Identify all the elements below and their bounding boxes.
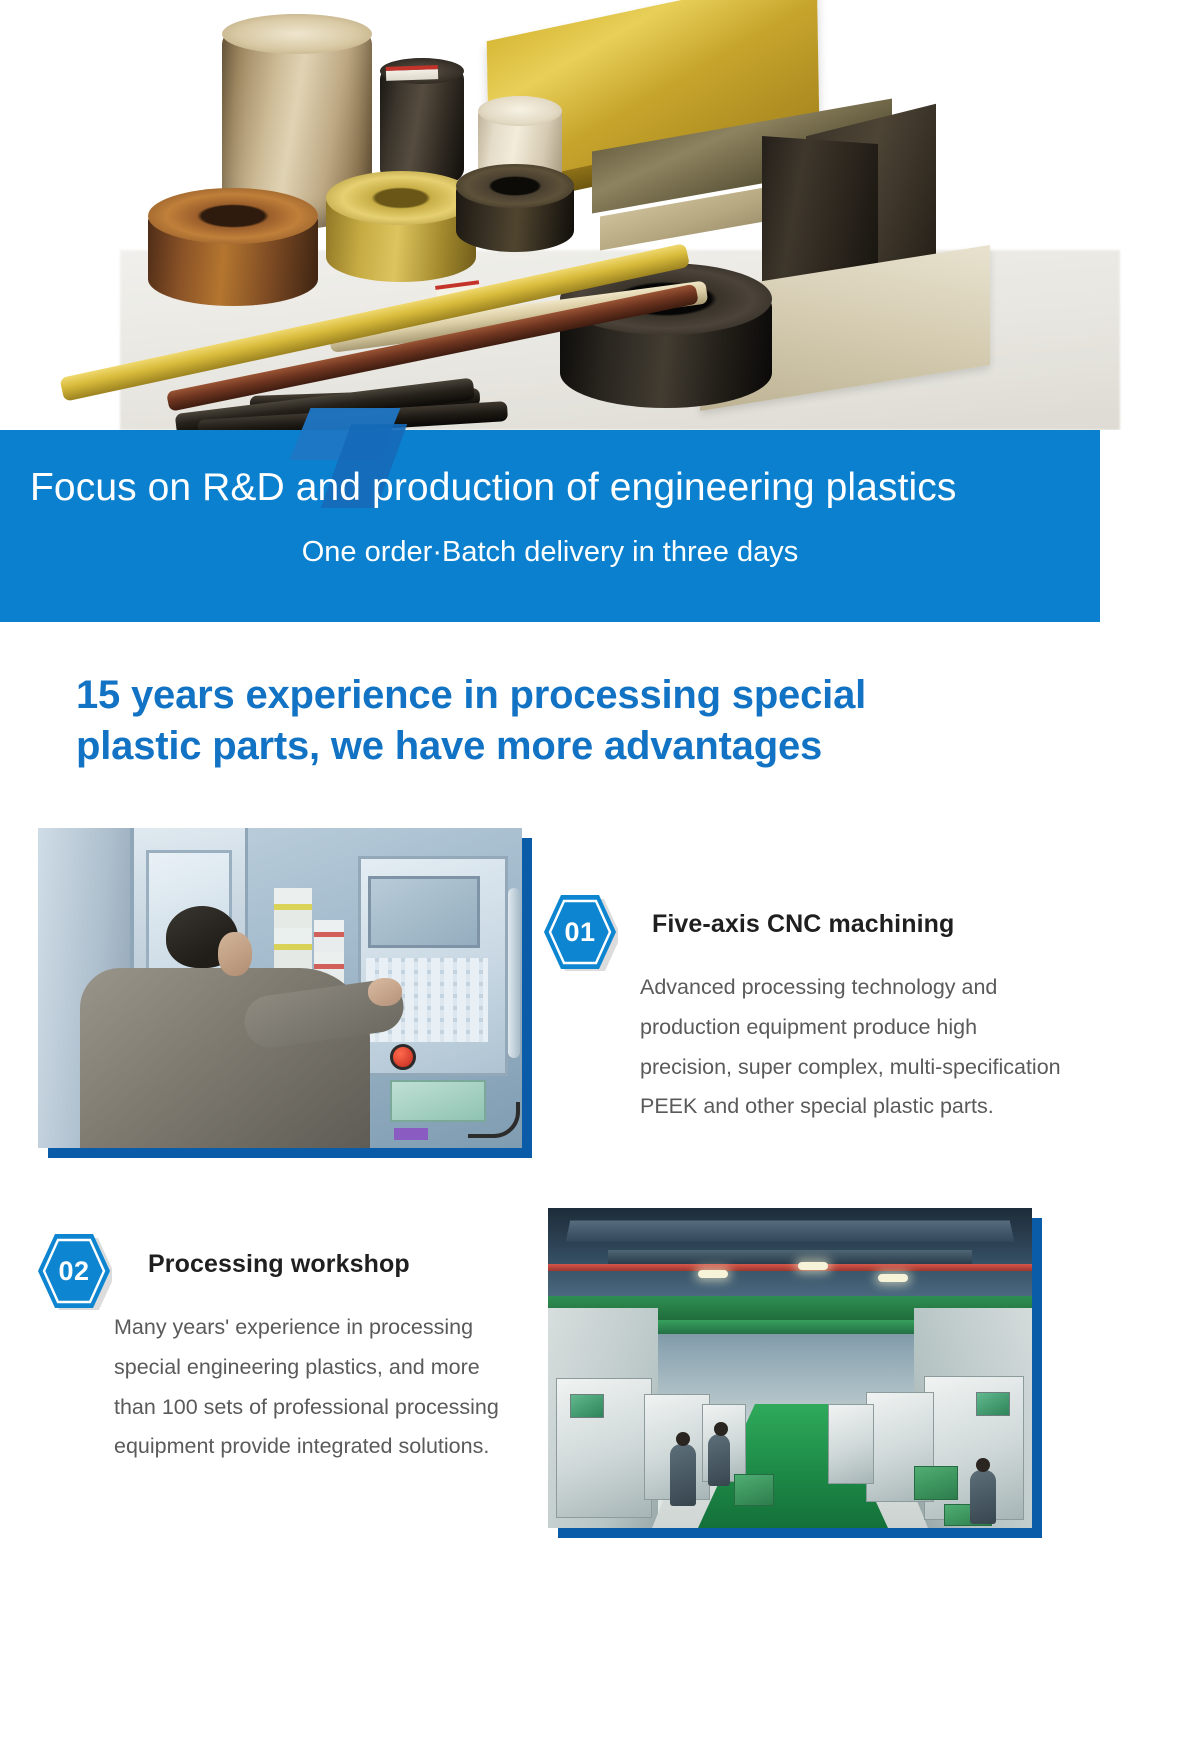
machine-screen-1 (570, 1394, 604, 1418)
product-label (386, 65, 438, 81)
banner-subtitle: One order·Batch delivery in three days (0, 536, 1100, 569)
banner-title: Focus on R&D and production of engineeri… (30, 466, 1080, 510)
ceiling-red-pipe (548, 1264, 1032, 1271)
image-content-workshop (548, 1208, 1032, 1528)
feature-badge-01: 01 (542, 893, 618, 971)
door-handle (508, 888, 520, 1058)
hero-product-image (0, 0, 1200, 430)
tagline-banner: Focus on R&D and production of engineeri… (0, 430, 1100, 622)
machine-screen-2 (976, 1392, 1010, 1416)
product-brown-ring (148, 194, 318, 306)
parts-cart-1 (734, 1474, 774, 1506)
feature-body-02: Many years' experience in processing spe… (114, 1308, 526, 1467)
ceiling-lamp-1 (698, 1270, 728, 1278)
worker-1 (670, 1444, 696, 1506)
ceiling-lamp-2 (798, 1262, 828, 1270)
headline-line-2: plastic parts, we have more advantages (76, 721, 1086, 772)
operator-hand (368, 978, 402, 1006)
feature-image-workshop (548, 1208, 1032, 1528)
parts-cart-2 (914, 1466, 958, 1500)
feature-badge-01-number: 01 (542, 893, 618, 971)
ceiling-duct (566, 1221, 1015, 1242)
emergency-stop-button (390, 1044, 416, 1070)
feature-title-01: Five-axis CNC machining (652, 910, 954, 939)
product-dark-ring (456, 170, 574, 252)
feature-badge-02-number: 02 (36, 1232, 112, 1310)
headline-line-1: 15 years experience in processing specia… (76, 670, 1086, 721)
ceiling-duct-2 (608, 1250, 972, 1264)
worker-3 (970, 1470, 996, 1524)
cable (468, 1102, 520, 1138)
image-content-cnc (38, 828, 522, 1148)
section-headline: 15 years experience in processing specia… (76, 670, 1086, 772)
cnc-screen (368, 876, 480, 948)
feature-badge-02: 02 (36, 1232, 112, 1310)
cnc-machine-6 (828, 1404, 874, 1484)
feature-title-02: Processing workshop (148, 1250, 410, 1279)
worker-2 (708, 1434, 730, 1486)
feature-body-01: Advanced processing technology and produ… (640, 968, 1070, 1127)
product-gold-ring (326, 178, 476, 282)
ceiling-lamp-3 (878, 1274, 908, 1282)
feature-image-cnc (38, 828, 522, 1148)
hero-stage (0, 0, 1200, 430)
purple-marker (394, 1128, 428, 1140)
operator-face (218, 932, 252, 976)
